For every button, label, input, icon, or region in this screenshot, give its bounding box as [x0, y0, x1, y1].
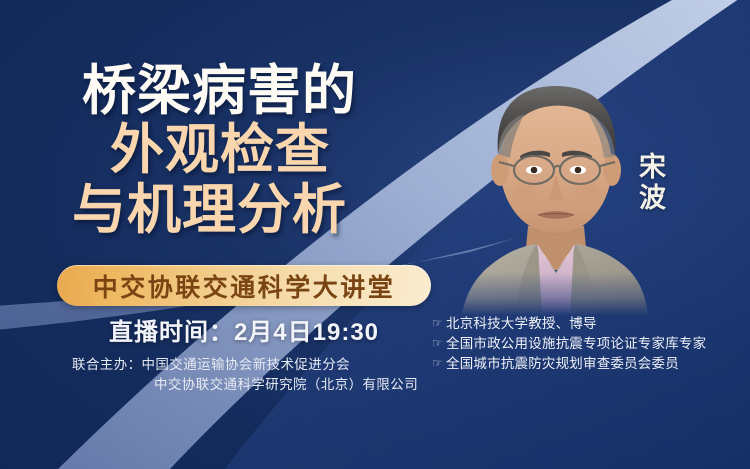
title-line-2: 外观检查 — [0, 120, 430, 180]
title-line-3: 与机理分析 — [0, 180, 430, 240]
pointing-hand-icon: ☞ — [432, 314, 445, 333]
credential-item: ☞ 全国城市抗震防灾规划审查委员会委员 — [432, 354, 744, 373]
organizers: 联合主办：中国交通运输协会新技术促进分会 中交协联交通科学研究院（北京）有限公司 — [72, 355, 442, 395]
live-time: 直播时间：2月4日19:30 — [57, 312, 431, 347]
title-line-1: 桥梁病害的 — [0, 62, 430, 120]
speaker-name: 宋波 — [630, 152, 676, 213]
speaker-credentials: ☞ 北京科技大学教授、博导 ☞ 全国市政公用设施抗震专项论证专家库专家 ☞ 全国… — [432, 314, 744, 374]
credential-item: ☞ 北京科技大学教授、博导 — [432, 314, 744, 333]
credential-text: 全国城市抗震防灾规划审查委员会委员 — [446, 354, 679, 373]
webinar-poster: 宋波 桥梁病害的 外观检查 与机理分析 中交协联交通科学大讲堂 直播时间：2月4… — [0, 0, 750, 469]
credential-text: 全国市政公用设施抗震专项论证专家库专家 — [446, 334, 706, 353]
program-banner: 中交协联交通科学大讲堂 — [57, 265, 431, 306]
credential-item: ☞ 全国市政公用设施抗震专项论证专家库专家 — [432, 334, 744, 353]
organizer-line-2: 中交协联交通科学研究院（北京）有限公司 — [72, 375, 442, 395]
pointing-hand-icon: ☞ — [432, 354, 445, 373]
poster-title: 桥梁病害的 外观检查 与机理分析 — [0, 62, 430, 240]
organizer-line-1: 联合主办：中国交通运输协会新技术促进分会 — [72, 355, 442, 375]
program-banner-label: 中交协联交通科学大讲堂 — [93, 268, 396, 304]
credential-text: 北京科技大学教授、博导 — [446, 314, 597, 333]
pointing-hand-icon: ☞ — [432, 334, 445, 353]
